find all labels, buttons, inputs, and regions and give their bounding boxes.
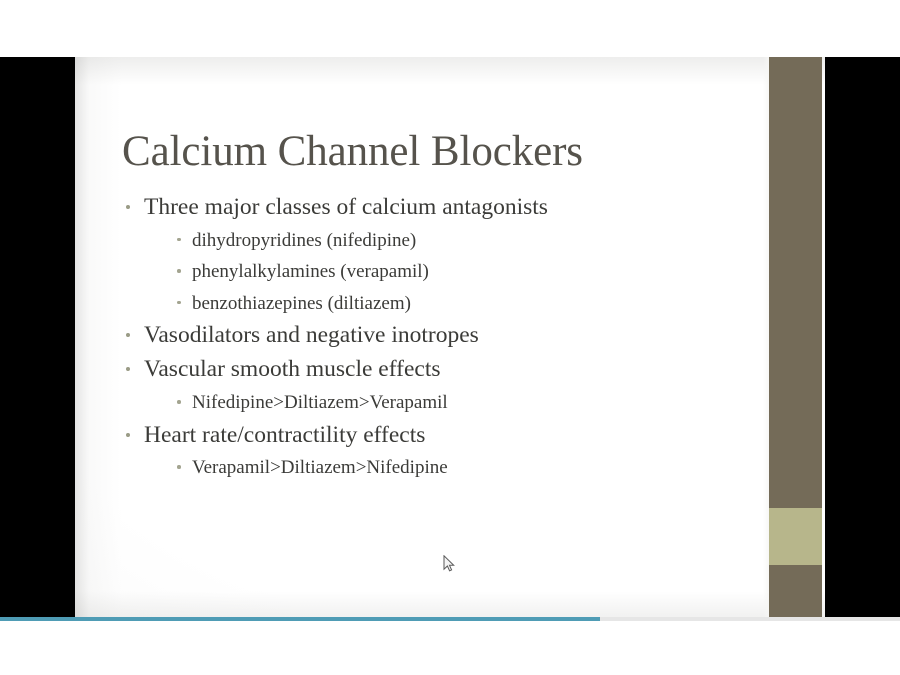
sub-bullet-item: dihydropyridines (nifedipine): [144, 225, 742, 257]
sub-bullet-dot-icon: [177, 301, 181, 305]
sub-bullet-dot-icon: [177, 465, 181, 469]
playback-progress-bar[interactable]: [0, 617, 900, 621]
bullet-list-level2: Verapamil>Diltiazem>Nifedipine: [144, 452, 742, 484]
sub-bullet-text: Nifedipine>Diltiazem>Verapamil: [192, 392, 448, 413]
sub-bullet-item: Verapamil>Diltiazem>Nifedipine: [144, 452, 742, 484]
bullet-list-level2: Nifedipine>Diltiazem>Verapamil: [144, 387, 742, 419]
bullet-text: Vasodilators and negative inotropes: [144, 322, 479, 348]
sub-bullet-item: benzothiazepines (diltiazem): [144, 288, 742, 320]
bullet-item: Heart rate/contractility effects Verapam…: [122, 419, 742, 484]
bullet-dot-icon: [126, 205, 130, 209]
sub-bullet-text: phenylalkylamines (verapamil): [192, 261, 429, 282]
sub-bullet-text: dihydropyridines (nifedipine): [192, 230, 416, 251]
bullet-text: Vascular smooth muscle effects: [144, 356, 441, 382]
bullet-item: Vasodilators and negative inotropes: [122, 319, 742, 353]
sub-bullet-dot-icon: [177, 238, 181, 242]
bullet-list-level1: Three major classes of calcium antagonis…: [122, 191, 742, 484]
presentation-slide: Calcium Channel Blockers Three major cla…: [75, 57, 825, 617]
slide-title: Calcium Channel Blockers: [122, 129, 742, 175]
bullet-dot-icon: [126, 367, 130, 371]
sub-bullet-text: Verapamil>Diltiazem>Nifedipine: [192, 457, 448, 478]
slide-body: Three major classes of calcium antagonis…: [122, 191, 742, 484]
sub-bullet-dot-icon: [177, 400, 181, 404]
right-band-accent-block: [769, 508, 822, 565]
sub-bullet-item: phenylalkylamines (verapamil): [144, 256, 742, 288]
bullet-text: Heart rate/contractility effects: [144, 422, 425, 448]
bullet-dot-icon: [126, 333, 130, 337]
playback-progress-fill[interactable]: [0, 617, 600, 621]
bullet-dot-icon: [126, 433, 130, 437]
sub-bullet-dot-icon: [177, 269, 181, 273]
sub-bullet-item: Nifedipine>Diltiazem>Verapamil: [144, 387, 742, 419]
bullet-item: Three major classes of calcium antagonis…: [122, 191, 742, 319]
bullet-text: Three major classes of calcium antagonis…: [144, 194, 548, 220]
sub-bullet-text: benzothiazepines (diltiazem): [192, 293, 411, 314]
video-player: Calcium Channel Blockers Three major cla…: [0, 0, 900, 675]
bullet-item: Vascular smooth muscle effects Nifedipin…: [122, 353, 742, 418]
bullet-list-level2: dihydropyridines (nifedipine) phenylalky…: [144, 225, 742, 320]
